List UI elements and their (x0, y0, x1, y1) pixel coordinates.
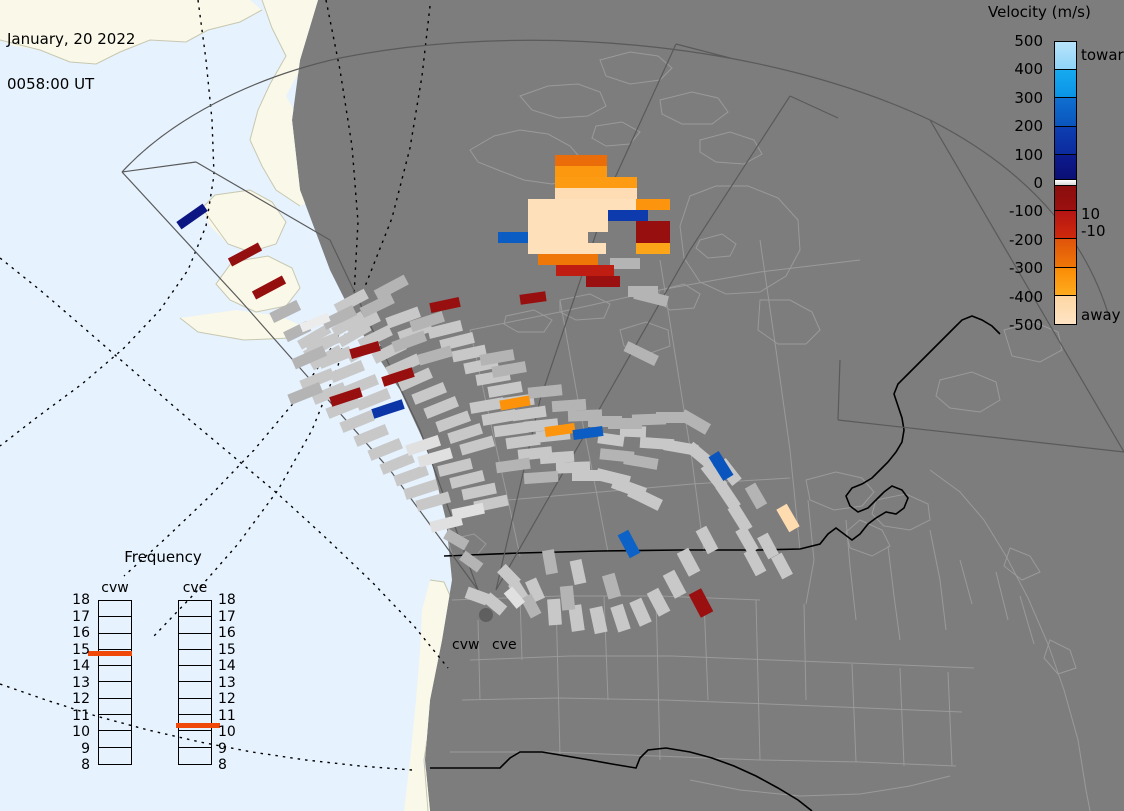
frequency-value-marker (88, 651, 132, 656)
colorbar-segment (1055, 127, 1076, 155)
frequency-scale-row (179, 683, 211, 699)
colorbar-segment (1055, 42, 1076, 70)
frequency-tick-label: 13 (218, 675, 240, 691)
frequency-scale-row (99, 683, 131, 699)
velocity-colorbar: Velocity (m/s) 5004003002001000-100-200-… (978, 3, 1124, 333)
velocity-cell[interactable] (636, 232, 670, 243)
frequency-tick-label: 10 (68, 724, 90, 740)
velocity-cell[interactable] (556, 265, 614, 276)
frequency-tick-label: 18 (218, 592, 240, 608)
colorbar-away-label: away (1081, 306, 1121, 324)
colorbar-segment (1055, 239, 1076, 267)
station-label-cvw: cvw (452, 637, 479, 653)
frequency-value-marker (176, 723, 220, 728)
colorbar-tick-label: 500 (985, 32, 1048, 50)
frequency-tick-label: 13 (68, 675, 90, 691)
colorbar-segment (1055, 296, 1076, 324)
frequency-tick-label: 11 (218, 708, 240, 724)
colorbar-tick-label: 200 (985, 117, 1048, 135)
frequency-tick-label: 8 (218, 757, 240, 773)
colorbar-gradient-strip[interactable] (1054, 41, 1077, 325)
frequency-column-name: cvw (94, 580, 136, 596)
frequency-tick-label: 10 (218, 724, 240, 740)
colorbar-negative-threshold-label: -10 (1081, 222, 1106, 240)
frequency-scale-row (99, 699, 131, 715)
colorbar-tick-label: 0 (985, 174, 1048, 192)
radar-origin-marker[interactable] (479, 608, 493, 622)
frequency-legend: Frequency cvw18171615141312111098cve1817… (88, 548, 238, 788)
colorbar-title: Velocity (m/s) (988, 3, 1124, 21)
colorbar-tick-label: -100 (985, 202, 1048, 220)
frequency-tick-label: 8 (68, 757, 90, 773)
frequency-tick-label: 17 (218, 609, 240, 625)
velocity-cell[interactable] (636, 199, 670, 210)
frequency-tick-label: 14 (68, 658, 90, 674)
frequency-scale-row (179, 617, 211, 633)
velocity-cell[interactable] (608, 210, 648, 221)
frequency-scale-row (99, 617, 131, 633)
colorbar-segment (1055, 98, 1076, 126)
velocity-cell[interactable] (528, 199, 636, 210)
frequency-tick-label: 9 (68, 741, 90, 757)
velocity-cell[interactable] (555, 177, 637, 188)
colorbar-tick-label: -300 (985, 259, 1048, 277)
colorbar-tick-label: 100 (985, 146, 1048, 164)
colorbar-tick-label: 300 (985, 89, 1048, 107)
timestamp-time: 0058:00 UT (7, 77, 135, 92)
frequency-scale-row (179, 634, 211, 650)
frequency-tick-label: 16 (218, 625, 240, 641)
velocity-cell[interactable] (526, 232, 588, 243)
frequency-column-name: cve (174, 580, 216, 596)
frequency-scale-row (179, 666, 211, 682)
frequency-tick-label: 11 (68, 708, 90, 724)
colorbar-segment (1055, 211, 1076, 239)
velocity-cell[interactable] (498, 232, 528, 243)
frequency-tick-label: 15 (218, 642, 240, 658)
velocity-cell[interactable] (528, 221, 608, 232)
frequency-tick-label: 12 (68, 691, 90, 707)
frequency-scale-row (179, 731, 211, 747)
frequency-tick-label: 14 (218, 658, 240, 674)
frequency-scale-row (179, 748, 211, 764)
frequency-scale-row (179, 699, 211, 715)
timestamp-date: January, 20 2022 (7, 32, 135, 47)
colorbar-tick-label: 400 (985, 60, 1048, 78)
colorbar-tick-label: -400 (985, 288, 1048, 306)
frequency-scale-box[interactable] (98, 600, 132, 765)
frequency-tick-label: 16 (68, 625, 90, 641)
colorbar-tick-label: -200 (985, 231, 1048, 249)
frequency-scale-row (99, 666, 131, 682)
colorbar-tick-label: -500 (985, 316, 1048, 334)
frequency-tick-label: 15 (68, 642, 90, 658)
frequency-scale-row (179, 650, 211, 666)
velocity-cell[interactable] (538, 254, 598, 265)
colorbar-segment (1055, 155, 1076, 180)
velocity-cell[interactable] (555, 155, 607, 166)
frequency-scale-row (99, 634, 131, 650)
colorbar-segment (1055, 268, 1076, 296)
velocity-cell[interactable] (528, 243, 606, 254)
velocity-cell[interactable] (586, 276, 620, 287)
frequency-tick-label: 17 (68, 609, 90, 625)
frequency-scale-row (99, 748, 131, 764)
station-label-cve: cve (492, 637, 517, 653)
frequency-legend-title: Frequency (88, 548, 238, 566)
colorbar-positive-threshold-label: 10 (1081, 205, 1100, 223)
frequency-tick-label: 18 (68, 592, 90, 608)
superdarn-velocity-map: January, 20 2022 0058:00 UT Velocity (m/… (0, 0, 1124, 811)
frequency-scale-row (179, 601, 211, 617)
timestamp-block: January, 20 2022 0058:00 UT (7, 2, 135, 122)
colorbar-toward-label: toward (1081, 46, 1124, 64)
velocity-cell[interactable] (555, 188, 637, 199)
colorbar-segment (1055, 186, 1076, 211)
frequency-scale-box[interactable] (178, 600, 212, 765)
velocity-cell[interactable] (636, 221, 670, 232)
colorbar-segment (1055, 70, 1076, 98)
frequency-tick-label: 12 (218, 691, 240, 707)
frequency-scale-row (99, 731, 131, 747)
frequency-tick-label: 9 (218, 741, 240, 757)
frequency-scale-row (99, 715, 131, 731)
frequency-scale-row (99, 601, 131, 617)
velocity-cell[interactable] (636, 243, 670, 254)
velocity-cell[interactable] (555, 166, 607, 177)
